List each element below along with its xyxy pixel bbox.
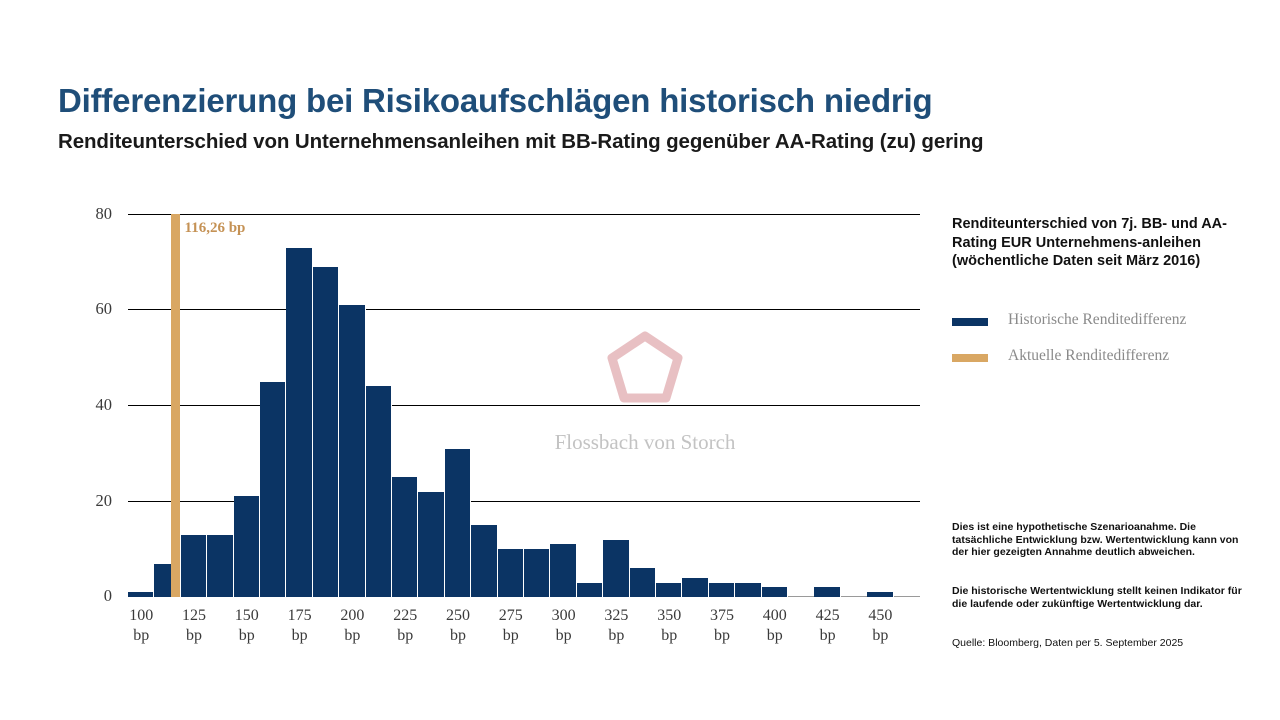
source-note: Quelle: Bloomberg, Daten per 5. Septembe… bbox=[952, 637, 1252, 649]
bar bbox=[339, 305, 365, 597]
bar bbox=[735, 583, 761, 597]
bar bbox=[313, 267, 339, 597]
bar bbox=[524, 549, 550, 597]
x-tick-275: 275bp bbox=[485, 606, 537, 646]
x-tick-150: 150bp bbox=[221, 606, 273, 646]
bar bbox=[392, 477, 418, 597]
x-tick-200: 200bp bbox=[326, 606, 378, 646]
legend-label-current: Aktuelle Renditedifferenz bbox=[1008, 347, 1169, 365]
x-tick-450: 450bp bbox=[854, 606, 906, 646]
legend-item-current[interactable]: Aktuelle Renditedifferenz bbox=[952, 347, 1252, 367]
y-tick-40: 40 bbox=[66, 395, 112, 415]
x-tick-225: 225bp bbox=[379, 606, 431, 646]
bar bbox=[234, 496, 260, 597]
chart-page: Differenzierung bei Risikoaufschlägen hi… bbox=[0, 0, 1280, 720]
page-title: Differenzierung bei Risikoaufschlägen hi… bbox=[58, 82, 932, 120]
x-tick-125: 125bp bbox=[168, 606, 220, 646]
bar bbox=[445, 449, 471, 597]
x-tick-250: 250bp bbox=[432, 606, 484, 646]
current-spread-marker-line bbox=[171, 214, 180, 597]
bar bbox=[709, 583, 735, 597]
bar bbox=[260, 382, 286, 597]
x-tick-400: 400bp bbox=[749, 606, 801, 646]
x-tick-425: 425bp bbox=[802, 606, 854, 646]
x-tick-100: 100bp bbox=[115, 606, 167, 646]
legend-label-historical: Historische Renditedifferenz bbox=[1008, 311, 1186, 329]
y-tick-0: 0 bbox=[66, 586, 112, 606]
gridline-60 bbox=[128, 309, 920, 310]
page-subtitle: Renditeunterschied von Unternehmensanlei… bbox=[58, 130, 983, 154]
bar bbox=[550, 544, 576, 597]
bar bbox=[471, 525, 497, 597]
bar bbox=[577, 583, 603, 597]
y-tick-60: 60 bbox=[66, 299, 112, 319]
gridline-40 bbox=[128, 405, 920, 406]
legend-title: Renditeunterschied von 7j. BB- und AA-Ra… bbox=[952, 215, 1252, 271]
legend-item-historical[interactable]: Historische Renditedifferenz bbox=[952, 311, 1252, 331]
gridline-80 bbox=[128, 214, 920, 215]
y-tick-20: 20 bbox=[66, 491, 112, 511]
bar bbox=[656, 583, 682, 597]
bar bbox=[128, 592, 154, 597]
bar bbox=[207, 535, 233, 597]
disclaimer-paragraph-1: Dies ist eine hypothetische Szenarioanah… bbox=[952, 521, 1242, 559]
x-tick-350: 350bp bbox=[643, 606, 695, 646]
x-tick-175: 175bp bbox=[274, 606, 326, 646]
bar bbox=[603, 540, 629, 597]
bar bbox=[418, 492, 444, 597]
bar bbox=[498, 549, 524, 597]
x-tick-325: 325bp bbox=[590, 606, 642, 646]
bar bbox=[814, 587, 840, 597]
disclaimer-paragraph-2: Die historische Wertentwicklung stellt k… bbox=[952, 585, 1242, 610]
bar bbox=[762, 587, 788, 597]
bar bbox=[630, 568, 656, 597]
legend-swatch-current bbox=[952, 354, 988, 362]
current-spread-marker-label: 116,26 bp bbox=[185, 220, 246, 237]
y-tick-80: 80 bbox=[66, 204, 112, 224]
bar bbox=[181, 535, 207, 597]
legend-swatch-historical bbox=[952, 318, 988, 326]
chart-plot-area: 80 60 40 20 0 116,26 bp 100bp125bp150bp1… bbox=[128, 214, 920, 597]
bar bbox=[682, 578, 708, 597]
x-tick-375: 375bp bbox=[696, 606, 748, 646]
x-tick-300: 300bp bbox=[538, 606, 590, 646]
bar bbox=[867, 592, 893, 597]
bar bbox=[366, 386, 392, 597]
bar bbox=[286, 248, 312, 597]
